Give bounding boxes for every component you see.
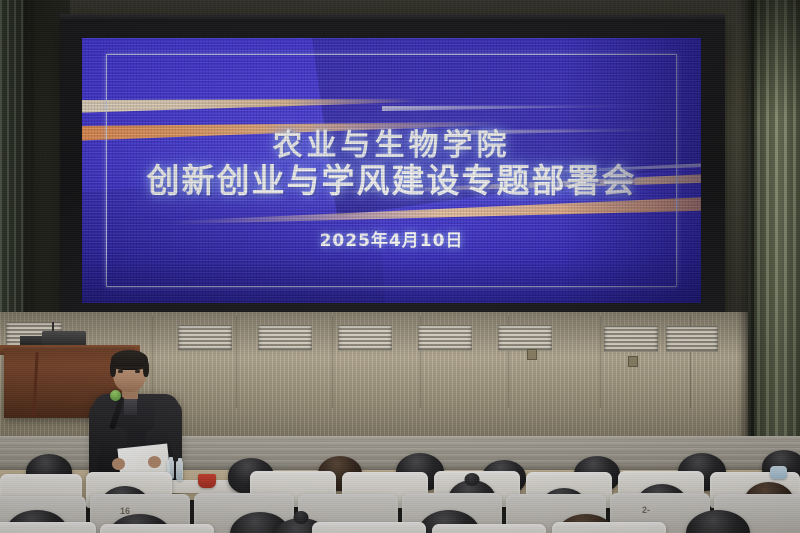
red-cup	[198, 474, 216, 488]
wall-panel-seam	[600, 316, 601, 408]
auditorium-scene: 农业与生物学院 创新创业与学风建设专题部署会 2025年4月10日	[0, 0, 800, 533]
seat[interactable]	[100, 524, 214, 533]
wall-vent-grille	[418, 325, 472, 351]
seat[interactable]	[312, 522, 426, 533]
face-mask	[770, 466, 787, 479]
audience-seating: 16 2-	[0, 452, 800, 533]
led-screen-bezel-top	[60, 14, 725, 22]
seat[interactable]	[0, 522, 96, 533]
curtain-right-edge-shadow	[738, 0, 754, 470]
seat-number: 2-	[642, 505, 650, 515]
wall-vent-grille	[498, 325, 552, 351]
wall-vent-grille	[666, 326, 718, 352]
wall-panel-seam	[332, 316, 333, 408]
wall-panel-seam	[236, 316, 237, 408]
wall-vent-grille	[604, 326, 658, 352]
wall-outlet	[628, 356, 638, 367]
wall-vent-grille	[178, 325, 232, 351]
led-screen[interactable]: 农业与生物学院 创新创业与学风建设专题部署会 2025年4月10日	[82, 38, 701, 303]
screen-edge-falloff-bottom	[82, 251, 701, 303]
wall-outlet	[527, 349, 537, 360]
wall-vent-grille	[258, 325, 312, 351]
water-bottle	[176, 461, 183, 481]
seat[interactable]	[552, 522, 666, 533]
presenter-eye-left	[118, 370, 123, 373]
wall-vent-grille	[338, 325, 392, 351]
presenter-collar	[124, 398, 137, 415]
presenter-eye-right	[135, 370, 140, 373]
seat[interactable]	[432, 524, 546, 533]
curtain-right-sheen	[748, 0, 800, 470]
